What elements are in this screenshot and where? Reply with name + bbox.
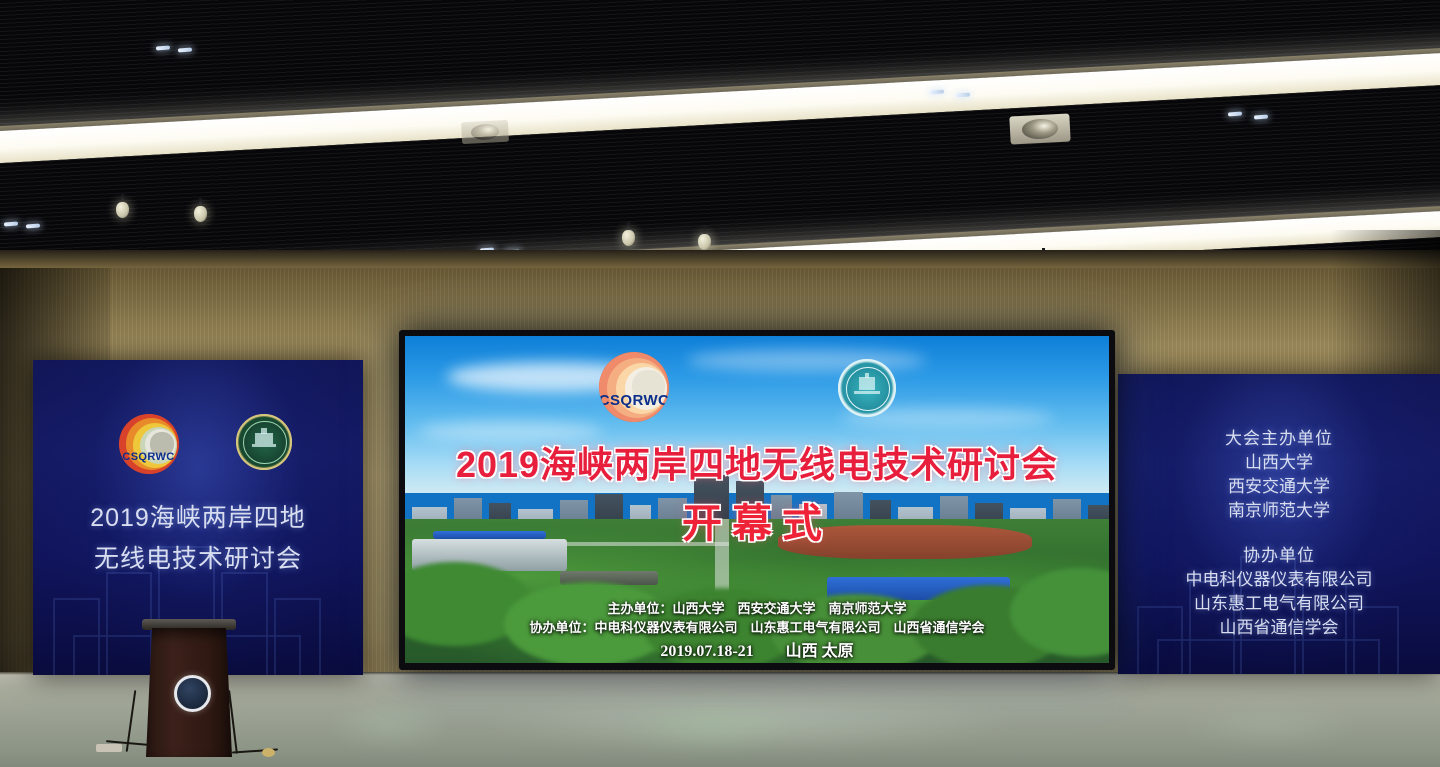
right-banner-cohost-heading: 协办单位 <box>1118 545 1440 567</box>
csqrwc-logo-label: CSQRWC <box>599 392 669 409</box>
floor-reflection <box>330 700 450 748</box>
right-banner-host-heading: 大会主办单位 <box>1118 428 1440 450</box>
recessed-can-light <box>1009 113 1070 144</box>
csqrwc-logo-icon: CSQRWC <box>119 414 179 474</box>
screen-footer-line-1: 主办单位：山西大学 西安交通大学 南京师范大学 <box>405 598 1109 617</box>
screen-main-title: 2019海峡两岸四地无线电技术研讨会 <box>405 436 1109 488</box>
right-banner-cohost-1: 山东惠工电气有限公司 <box>1118 593 1440 615</box>
right-banner: 大会主办单位 山西大学 西安交通大学 南京师范大学 协办单位 中电科仪器仪表有限… <box>1118 374 1440 674</box>
recessed-can-light <box>461 120 509 144</box>
university-seal-icon <box>838 359 896 417</box>
podium-emblem-icon <box>174 675 211 712</box>
ceiling-spotlight <box>622 222 635 246</box>
screen-footer-line-3: 2019.07.18-21 山西 太原 <box>405 637 1109 661</box>
cable-coil <box>262 748 275 757</box>
csqrwc-logo-icon: CSQRWC <box>599 352 669 422</box>
conference-hall-photo: CSQRWC 2019海峡两岸四地 无线电技术研讨会 大会主办单位 山西大学 西… <box>0 0 1440 767</box>
ceiling-spotlight <box>116 194 129 218</box>
right-banner-host-2: 南京师范大学 <box>1118 500 1440 522</box>
left-banner-title-line-1: 2019海峡两岸四地 <box>33 502 363 534</box>
ceiling-spotlight <box>698 226 711 250</box>
podium[interactable] <box>146 619 232 757</box>
left-banner-title-line-2: 无线电技术研讨会 <box>33 543 363 575</box>
right-banner-host-0: 山西大学 <box>1118 452 1440 474</box>
right-banner-cohost-0: 中电科仪器仪表有限公司 <box>1118 569 1440 591</box>
floor-reflection <box>1180 700 1360 748</box>
csqrwc-logo-label: CSQRWC <box>119 451 179 463</box>
right-banner-host-1: 西安交通大学 <box>1118 476 1440 498</box>
ceiling-spotlight <box>194 198 207 222</box>
cloud <box>687 349 926 372</box>
screen-footer-line-2: 协办单位：中电科仪器仪表有限公司 山东惠工电气有限公司 山西省通信学会 <box>405 617 1109 636</box>
university-seal-icon <box>236 414 292 470</box>
right-banner-cohost-2: 山西省通信学会 <box>1118 617 1440 639</box>
floor-reflection <box>620 700 800 754</box>
led-screen[interactable]: CSQRWC 2019海峡两岸四地无线电技术研讨会 开幕式 主办单位：山西大学 … <box>405 336 1109 663</box>
screen-subtitle: 开幕式 <box>405 491 1109 549</box>
power-strip <box>96 744 122 752</box>
